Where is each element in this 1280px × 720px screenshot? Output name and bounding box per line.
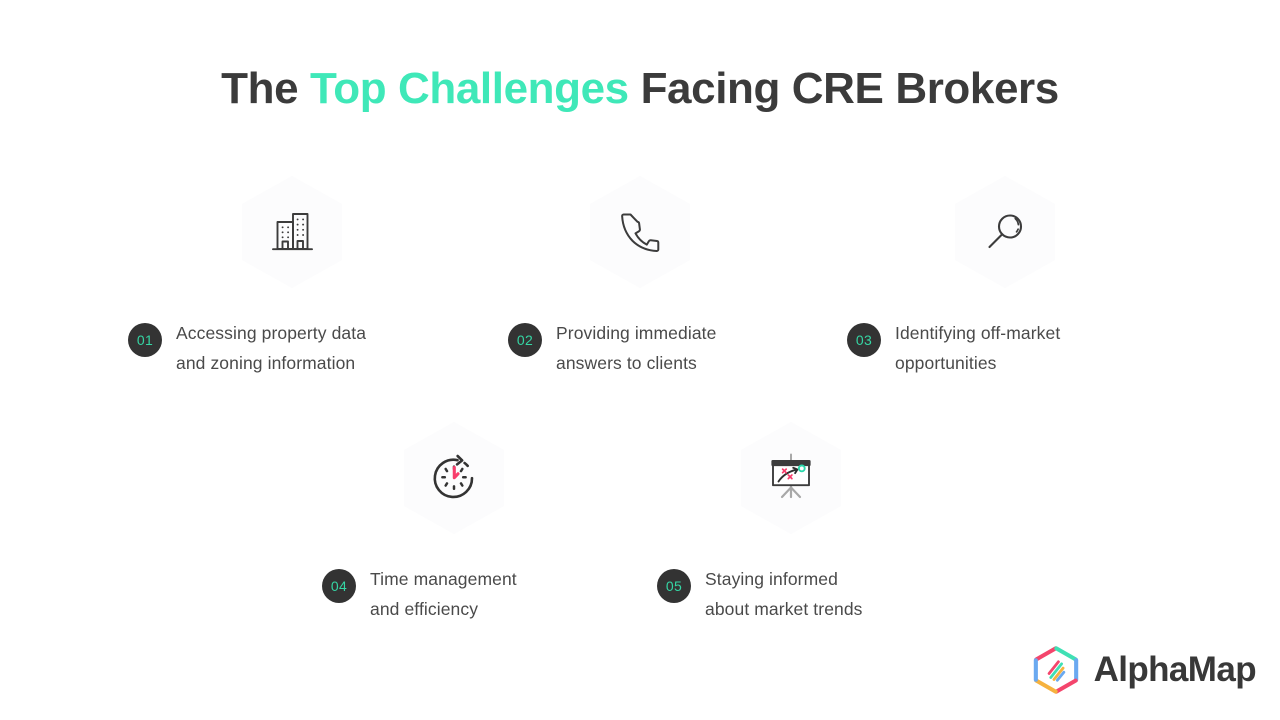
caption-line-2: and efficiency (370, 594, 517, 624)
caption-row-05: 05 Staying informed about market trends (657, 564, 987, 624)
caption-line-1: Time management (370, 569, 517, 589)
caption-text-01: Accessing property data and zoning infor… (176, 318, 366, 378)
number-badge-05: 05 (657, 569, 691, 603)
number-badge-03: 03 (847, 323, 881, 357)
caption-line-1: Accessing property data (176, 323, 366, 343)
challenge-item-05: 05 Staying informed about market trends (657, 422, 987, 624)
caption-line-1: Staying informed (705, 569, 838, 589)
caption-text-02: Providing immediate answers to clients (556, 318, 716, 378)
caption-text-05: Staying informed about market trends (705, 564, 863, 624)
slide-canvas: The Top Challenges Facing CRE Brokers (0, 0, 1280, 720)
caption-row-01: 01 Accessing property data and zoning in… (128, 318, 458, 378)
caption-text-04: Time management and efficiency (370, 564, 517, 624)
number-badge-04: 04 (322, 569, 356, 603)
challenge-item-01: 01 Accessing property data and zoning in… (128, 176, 458, 378)
title-part-2: Facing CRE Brokers (629, 64, 1059, 113)
number-badge-01: 01 (128, 323, 162, 357)
challenge-item-04: 04 Time management and efficiency (322, 422, 652, 624)
caption-row-02: 02 Providing immediate answers to client… (508, 318, 838, 378)
number-badge-02: 02 (508, 323, 542, 357)
office-buildings-icon (242, 176, 342, 288)
magnifying-glass-icon (955, 176, 1055, 288)
caption-line-1: Identifying off-market (895, 323, 1060, 343)
challenge-item-03: 03 Identifying off-market opportunities (847, 176, 1177, 378)
hexagon-badge-01 (242, 176, 342, 288)
caption-text-03: Identifying off-market opportunities (895, 318, 1060, 378)
title-accent: Top Challenges (310, 64, 629, 113)
title-part-1: The (221, 64, 310, 113)
alphamap-logo: AlphaMap (1028, 642, 1256, 698)
hexagon-badge-05 (741, 422, 841, 534)
caption-line-2: about market trends (705, 594, 863, 624)
alphamap-hexagon-logo-icon (1028, 642, 1084, 698)
hexagon-badge-03 (955, 176, 1055, 288)
caption-line-2: answers to clients (556, 348, 716, 378)
caption-line-1: Providing immediate (556, 323, 716, 343)
page-title: The Top Challenges Facing CRE Brokers (0, 64, 1280, 114)
phone-handset-icon (590, 176, 690, 288)
hexagon-badge-02 (590, 176, 690, 288)
caption-row-03: 03 Identifying off-market opportunities (847, 318, 1177, 378)
caption-line-2: opportunities (895, 348, 1060, 378)
caption-line-2: and zoning information (176, 348, 366, 378)
presentation-board-icon (741, 422, 841, 534)
hexagon-badge-04 (404, 422, 504, 534)
clock-arrow-icon (404, 422, 504, 534)
alphamap-wordmark: AlphaMap (1094, 650, 1256, 690)
challenge-item-02: 02 Providing immediate answers to client… (508, 176, 838, 378)
caption-row-04: 04 Time management and efficiency (322, 564, 652, 624)
